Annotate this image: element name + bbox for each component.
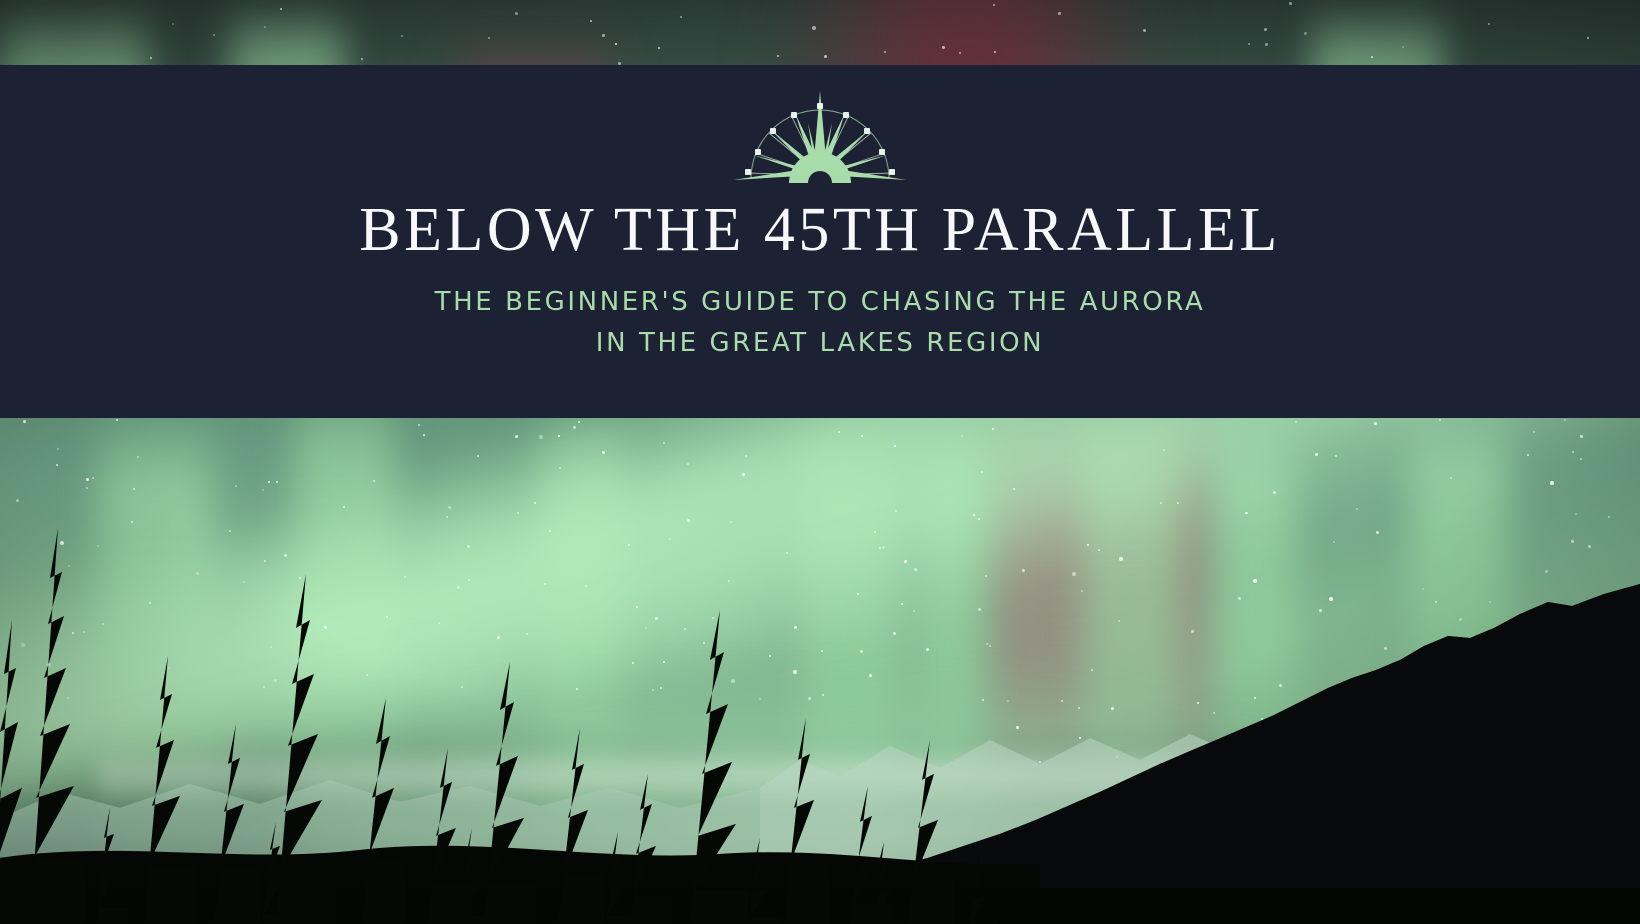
poster-canvas: BELOW THE 45TH PARALLEL THE BEGINNER'S G… [0,0,1640,924]
page-subtitle: THE BEGINNER'S GUIDE TO CHASING THE AURO… [435,282,1206,364]
title-banner: BELOW THE 45TH PARALLEL THE BEGINNER'S G… [0,65,1640,418]
subtitle-line-1: THE BEGINNER'S GUIDE TO CHASING THE AURO… [435,282,1206,323]
subtitle-line-2: IN THE GREAT LAKES REGION [435,323,1206,364]
landscape-silhouette [0,388,1640,924]
page-title: BELOW THE 45TH PARALLEL [359,199,1281,262]
compass-starburst-icon [729,87,911,183]
